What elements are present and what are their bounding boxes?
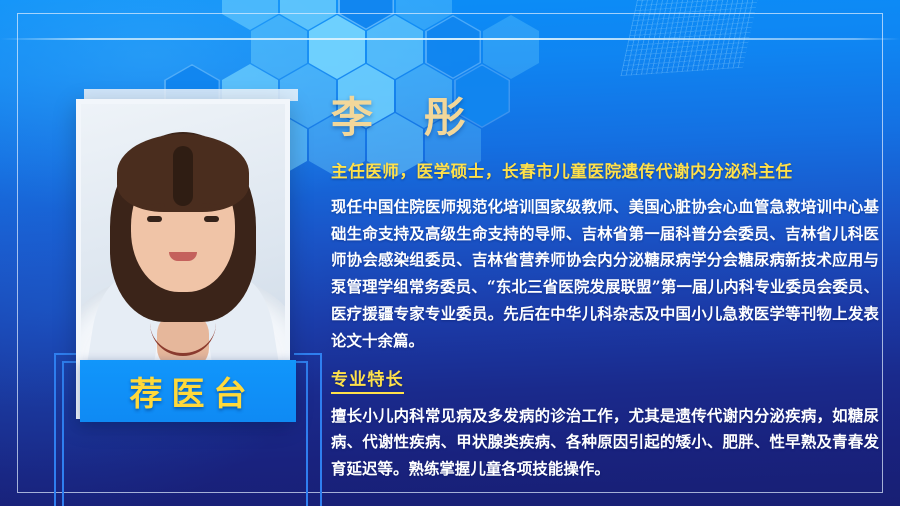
hexagon-cell [280,0,336,30]
doctor-title: 主任医师，医学硕士，长春市儿童医院遗传代谢内分泌科主任 [331,160,879,185]
hexagon-cell [483,15,539,79]
badge-label: 荐医台 [121,367,256,415]
doctor-name: 李 彤 [331,96,879,140]
header-divider-line [0,38,900,40]
portrait-block: 荐医台 [76,95,298,422]
hexagon-cell [425,15,481,79]
hexagon-cell [338,0,394,30]
doctor-bio: 现任中国住院医师规范化培训国家级教师、美国心脏协会心血管急救培训中心基础生命支持… [331,194,879,355]
profile-text-column: 李 彤 主任医师，医学硕士，长春市儿童医院遗传代谢内分泌科主任 现任中国住院医师… [331,96,879,483]
specialty-heading: 专业特长 [331,365,404,394]
portrait-fringe [117,134,249,212]
hexagon-cell [222,0,278,30]
specialty-text: 擅长小儿内科常见病及多发病的诊治工作，尤其是遗传代谢内分泌疾病，如糖尿病、代谢性… [331,403,879,483]
portrait-eye-right [204,216,219,222]
dot-grid-pattern [621,0,760,76]
hexagon-cell [396,0,452,30]
portrait-eye-left [147,216,162,222]
hexagon-cell [309,15,365,79]
doctor-profile-card: 荐医台 李 彤 主任医师，医学硕士，长春市儿童医院遗传代谢内分泌科主任 现任中国… [0,0,900,506]
bracket-right-outer [294,353,322,506]
badge-banner: 荐医台 [80,360,296,422]
hexagon-cell [251,15,307,79]
hexagon-cell [367,15,423,79]
